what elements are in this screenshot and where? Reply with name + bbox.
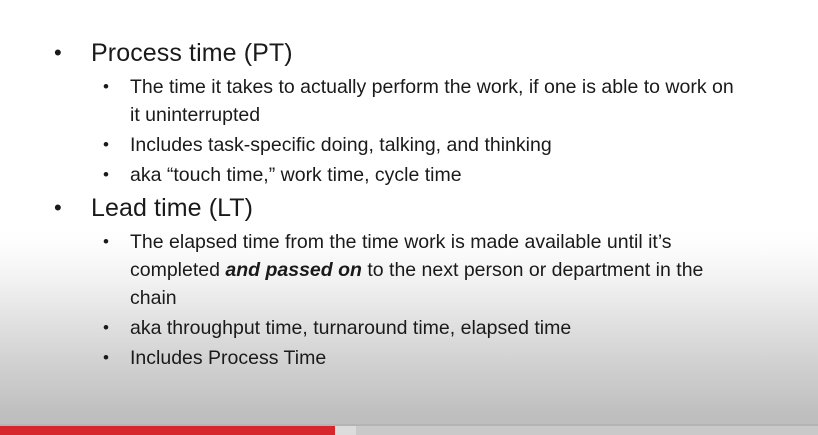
sub-bullet-label: The time it takes to actually perform th… xyxy=(130,73,746,129)
slide-canvas: Process vs. Lead Time • Process time (PT… xyxy=(0,0,818,435)
sub-bullet-pt-definition: • The time it takes to actually perform … xyxy=(0,73,818,129)
bullet-process-time: • Process time (PT) xyxy=(0,36,818,70)
sub-bullet-label: aka throughput time, turnaround time, el… xyxy=(130,314,746,342)
bullet-label: Process time (PT) xyxy=(91,39,293,67)
sublist-container-process-time: • The time it takes to actually perform … xyxy=(0,73,818,189)
sub-bullet-lt-includes: • Includes Process Time xyxy=(0,344,818,372)
bullet-list-level2-process-time: • The time it takes to actually perform … xyxy=(0,73,818,189)
sub-bullet-lt-definition: • The elapsed time from the time work is… xyxy=(0,228,818,312)
bullet-marker-icon: • xyxy=(54,191,62,225)
bullet-marker-icon: • xyxy=(54,36,62,70)
sub-bullet-label: Includes task-specific doing, talking, a… xyxy=(130,131,746,159)
video-progress-bar[interactable] xyxy=(0,426,818,435)
sub-bullet-label: aka “touch time,” work time, cycle time xyxy=(130,161,746,189)
bullet-marker-icon: • xyxy=(103,344,109,372)
bullet-lead-time: • Lead time (LT) xyxy=(0,191,818,225)
sub-bullet-label: The elapsed time from the time work is m… xyxy=(130,228,746,312)
bullet-marker-icon: • xyxy=(103,73,109,101)
slide-body: • Process time (PT) • The time it takes … xyxy=(0,36,818,374)
sub-bullet-pt-includes: • Includes task-specific doing, talking,… xyxy=(0,131,818,159)
sub-bullet-pt-aka: • aka “touch time,” work time, cycle tim… xyxy=(0,161,818,189)
bullet-marker-icon: • xyxy=(103,131,109,159)
sub-bullet-emphasis: and passed on xyxy=(225,259,362,281)
sub-bullet-lt-aka: • aka throughput time, turnaround time, … xyxy=(0,314,818,342)
bullet-label: Lead time (LT) xyxy=(91,194,253,222)
sub-bullet-label: Includes Process Time xyxy=(130,344,746,372)
sublist-container-lead-time: • The elapsed time from the time work is… xyxy=(0,228,818,372)
bullet-marker-icon: • xyxy=(103,161,109,189)
bullet-marker-icon: • xyxy=(103,314,109,342)
video-progress-played[interactable] xyxy=(0,426,335,435)
slide-title-cropped: Process vs. Lead Time xyxy=(0,0,818,7)
bullet-list-level1: • Process time (PT) • The time it takes … xyxy=(0,36,818,372)
bullet-list-level2-lead-time: • The elapsed time from the time work is… xyxy=(0,228,818,372)
bullet-marker-icon: • xyxy=(103,228,109,256)
